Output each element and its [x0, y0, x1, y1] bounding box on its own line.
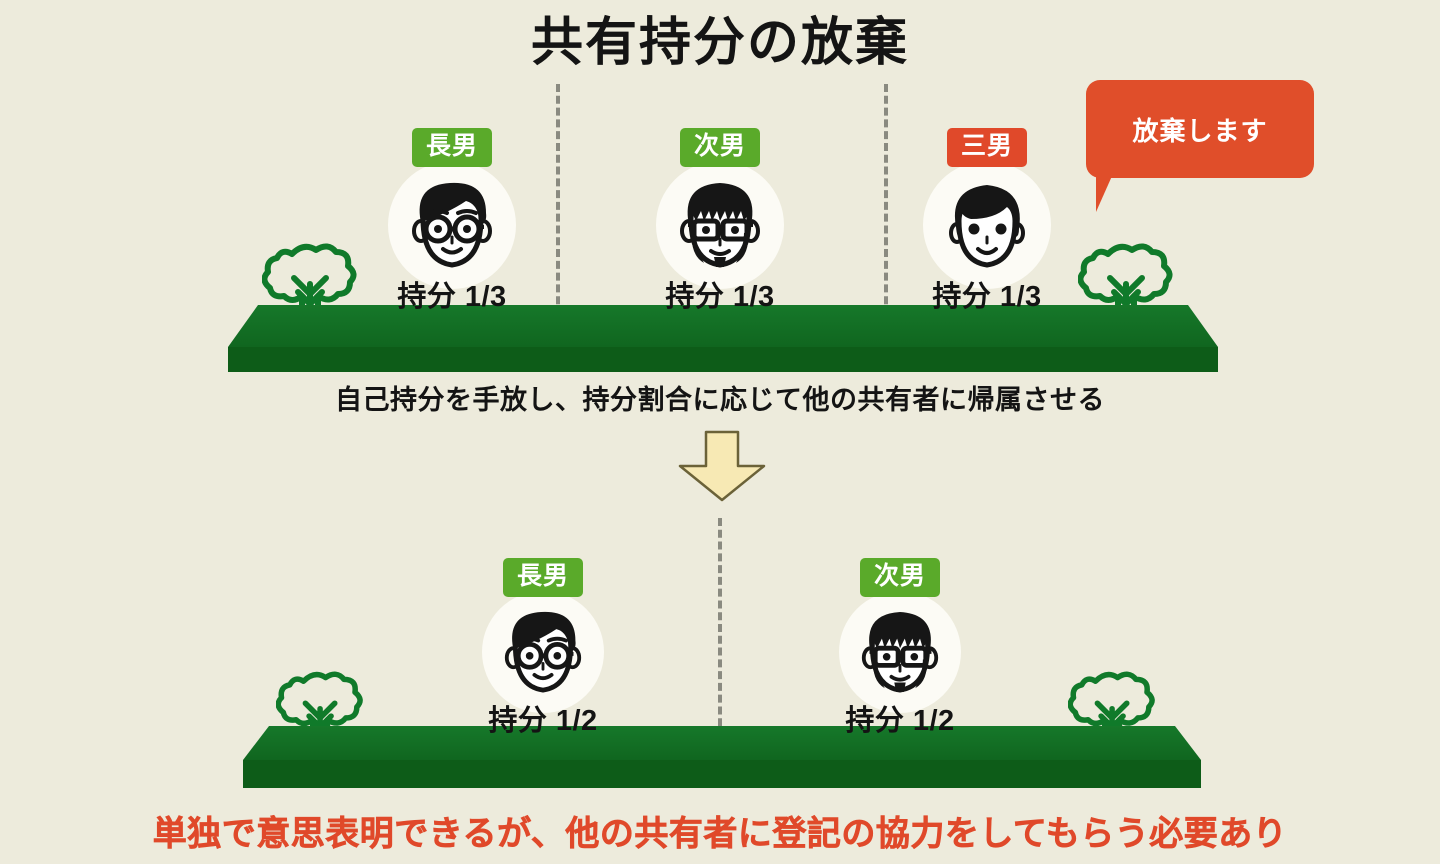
avatar [862, 161, 1112, 289]
caption-bottom: 単独で意思表明できるが、他の共有者に登記の協力をしてもらう必要あり [0, 806, 1440, 855]
man-bangs-glasses-goatee-avatar [656, 161, 784, 289]
young-man-bowl-hair-avatar [923, 161, 1051, 289]
person-before-3: 三男 持分 1/3 [862, 128, 1112, 315]
badge-role: 次男 [680, 128, 760, 167]
person-after-2: 次男 [775, 558, 1025, 739]
avatar [327, 161, 577, 289]
badge-role: 次男 [860, 558, 940, 597]
avatar-disc [839, 591, 961, 713]
badge-role: 長男 [412, 128, 492, 167]
avatar-disc [388, 161, 516, 289]
avatar-disc [656, 161, 784, 289]
badge-role: 三男 [947, 128, 1027, 167]
land-plot-after [243, 726, 1201, 760]
avatar [595, 161, 845, 289]
share-label: 持分 1/2 [775, 697, 1025, 739]
down-arrow-icon [676, 430, 768, 502]
man-bangs-glasses-goatee-avatar [839, 591, 961, 713]
share-label: 持分 1/3 [595, 273, 845, 315]
share-label: 持分 1/2 [418, 697, 668, 739]
land-front-surface [228, 347, 1218, 372]
divider-bottom-1 [718, 518, 722, 738]
speech-bubble: 放棄します [1086, 80, 1314, 178]
person-before-2: 次男 [595, 128, 845, 315]
badge-role: 長男 [503, 558, 583, 597]
avatar-disc [482, 591, 604, 713]
speech-bubble-text: 放棄します [1132, 111, 1267, 148]
person-after-1: 長男 [418, 558, 668, 739]
avatar [418, 591, 668, 713]
avatar-disc [923, 161, 1051, 289]
diagram-canvas: 共有持分の放棄 長男 [0, 0, 1440, 864]
land-front-surface [243, 760, 1201, 788]
share-label: 持分 1/3 [862, 273, 1112, 315]
land-top-surface [243, 726, 1201, 760]
share-label: 持分 1/3 [327, 273, 577, 315]
avatar [775, 591, 1025, 713]
page-title: 共有持分の放棄 [0, 14, 1440, 74]
caption-middle: 自己持分を手放し、持分割合に応じて他の共有者に帰属させる [0, 378, 1440, 417]
man-side-part-glasses-beard-avatar [482, 591, 604, 713]
speech-bubble-tail [1096, 176, 1134, 212]
person-before-1: 長男 [327, 128, 577, 315]
man-side-part-glasses-beard-avatar [388, 161, 516, 289]
